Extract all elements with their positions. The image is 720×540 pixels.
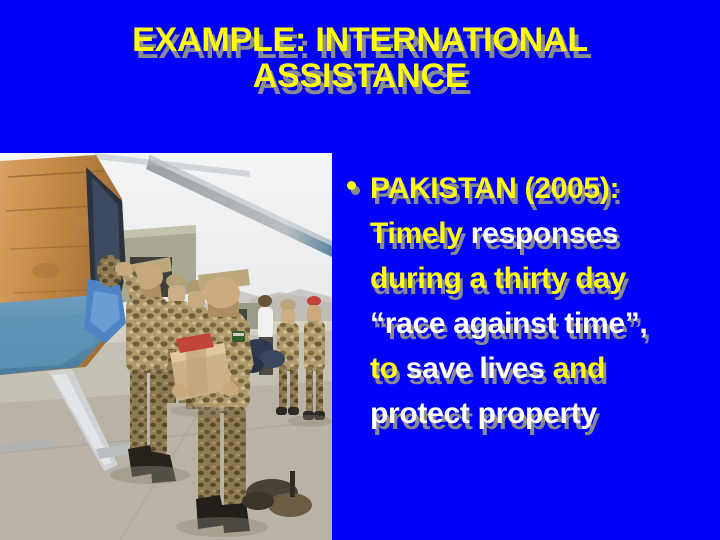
body-segment: responses	[471, 217, 618, 250]
body-segment: to	[370, 352, 406, 385]
body-line-6: protect property	[370, 391, 720, 436]
body-line-5: to save lives and	[370, 346, 720, 391]
body-text-lines: PAKISTAN (2005): Timely responses during…	[370, 166, 720, 436]
presentation-slide: EXAMPLE: INTERNATIONAL ASSISTANCE	[0, 0, 720, 540]
body-line-3: during a thirty day	[370, 256, 720, 301]
slide-photo	[0, 153, 332, 540]
body-segment: PAKISTAN (2005):	[370, 172, 619, 205]
body-segment: and	[553, 352, 605, 385]
body-segment: Timely	[370, 217, 471, 250]
body-segment: protect property	[370, 397, 597, 430]
body-line-1: PAKISTAN (2005):	[370, 166, 720, 211]
title-line-1: EXAMPLE: INTERNATIONAL	[60, 22, 660, 58]
body-line-2: Timely responses	[370, 211, 720, 256]
title-line-2: ASSISTANCE	[60, 58, 660, 94]
body-line-4: “race against time”,	[370, 301, 720, 346]
bullet-icon	[347, 181, 356, 190]
photo-illustration	[0, 153, 332, 540]
body-segment: save lives	[406, 352, 553, 385]
body-segment: during a thirty day	[370, 262, 626, 295]
slide-body: PAKISTAN (2005): Timely responses during…	[344, 166, 720, 436]
slide-title: EXAMPLE: INTERNATIONAL ASSISTANCE	[60, 22, 660, 94]
body-segment: “race against time”,	[370, 307, 647, 340]
